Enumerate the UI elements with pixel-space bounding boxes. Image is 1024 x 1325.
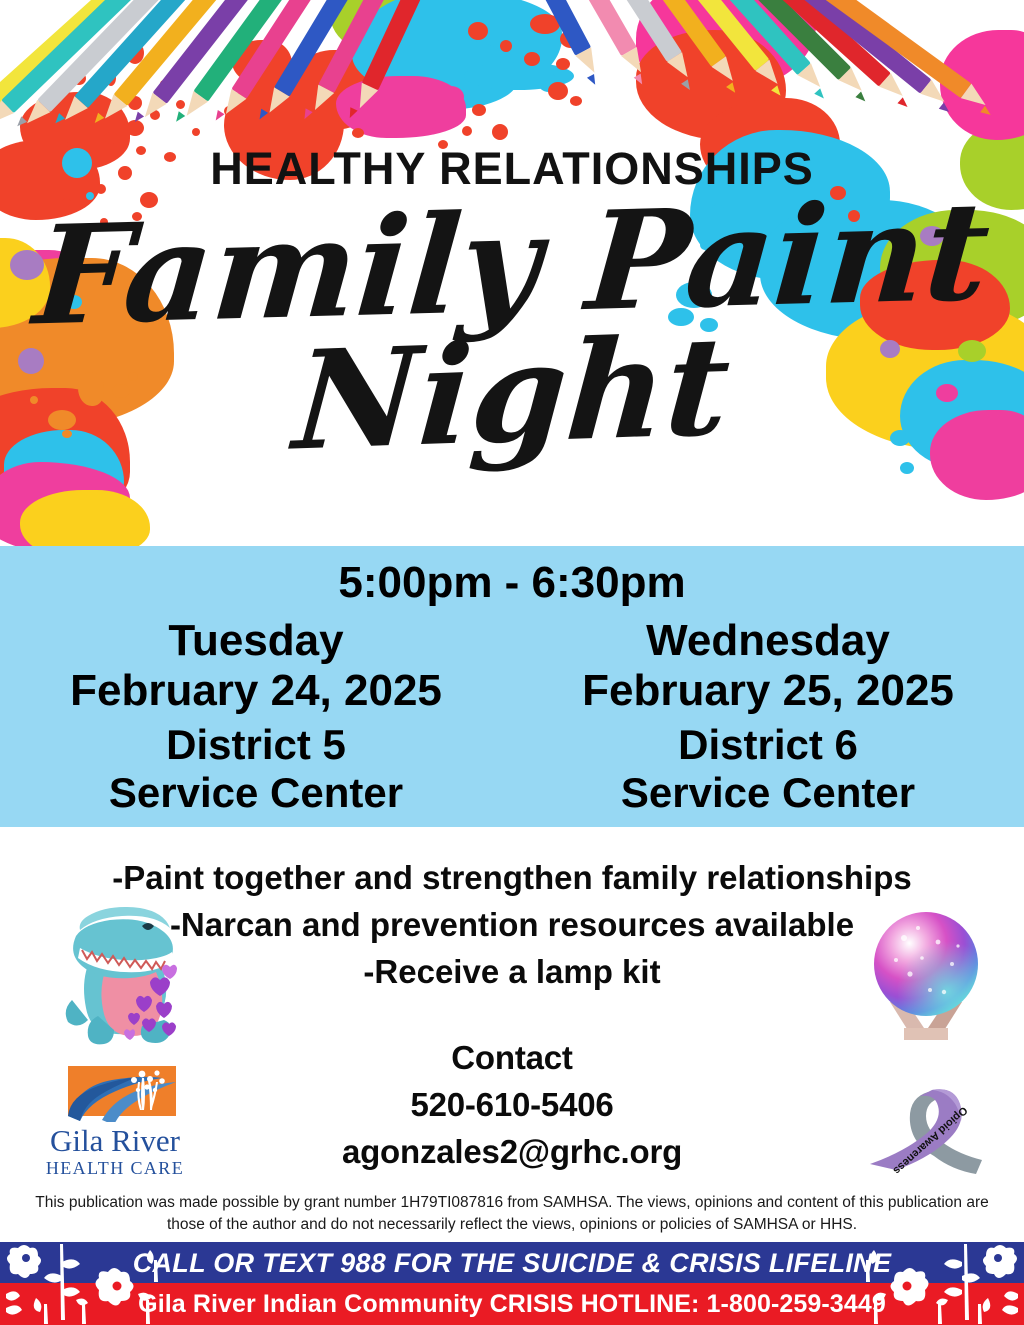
logo-subtitle: HEALTH CARE (22, 1158, 208, 1179)
dot-red-15 (176, 100, 185, 109)
community-crisis-hotline-text: Gila River Indian Community CRISIS HOTLI… (0, 1290, 1024, 1319)
colored-pencil-right-10 (810, 0, 1015, 129)
dot-red-3 (96, 44, 106, 54)
splat-red-center-3 (232, 40, 292, 84)
colored-pencil-right-3 (559, 0, 712, 109)
session-day: Wednesday (512, 616, 1024, 666)
dot-red-10 (126, 120, 144, 136)
colored-pencil-right-5 (633, 0, 804, 114)
dot-red-7 (128, 96, 142, 110)
session-tuesday: Tuesday February 24, 2025 District 5 Ser… (0, 616, 512, 816)
grant-disclaimer: This publication was made possible by gr… (20, 1192, 1004, 1236)
session-wednesday: Wednesday February 25, 2025 District 6 S… (512, 616, 1024, 816)
dot-red-4 (72, 72, 86, 85)
crisis-banner: CALL OR TEXT 988 FOR THE SUICIDE & CRISI… (0, 1242, 1024, 1325)
dot-red-33 (570, 96, 582, 106)
disclaimer-line-2: of the author and do not necessarily ref… (209, 1216, 857, 1233)
dot-red-27 (530, 14, 560, 34)
event-time: 5:00pm - 6:30pm (0, 546, 1024, 608)
splat-cyan-center-2 (378, 40, 518, 110)
dot-red-34 (472, 104, 486, 116)
dot-red-12 (150, 110, 160, 120)
splat-green-top (330, 0, 480, 60)
splat-hotpink-right (636, 0, 816, 94)
dot-red-29 (500, 40, 512, 52)
benefit-item: -Paint together and strengthen family re… (0, 855, 1024, 902)
dinosaur-toy-image (58, 896, 194, 1046)
dot-red-5 (106, 70, 116, 86)
page-title: Family Paint Night (0, 196, 1024, 462)
dot-red-9 (160, 80, 168, 88)
dot-red-8 (150, 54, 160, 64)
logo-mark (54, 1066, 176, 1122)
colored-pencil-right-4 (596, 0, 759, 111)
dot-red-26 (468, 22, 488, 40)
dot-red-2 (76, 60, 84, 68)
colored-pencil-left-7 (162, 0, 320, 145)
logo-name: Gila River (22, 1125, 208, 1157)
dot-pink-1 (438, 86, 464, 108)
splat-cyan-center (352, 0, 562, 100)
session-date: February 24, 2025 (0, 666, 512, 716)
dot-red-36 (492, 124, 508, 140)
session-date: February 25, 2025 (512, 666, 1024, 716)
colored-pencil-left-5 (80, 0, 245, 146)
colored-pencil-right-2 (521, 0, 665, 105)
splat-hotpink-right-2 (940, 30, 1024, 140)
splat-cyan-tail (464, 62, 574, 90)
dot-red-32 (548, 82, 568, 100)
dot-red-28 (560, 30, 582, 48)
colored-pencil-left-2 (0, 0, 138, 146)
session-day: Tuesday (0, 616, 512, 666)
colored-pencil-right-1 (484, 0, 617, 104)
flyer-page: HEALTHY RELATIONSHIPS Family Paint Night… (0, 0, 1024, 1325)
dot-red-16 (192, 128, 200, 136)
dot-red-31 (556, 58, 570, 70)
dot-cyan-r5 (900, 462, 914, 474)
colored-pencil-right-6 (668, 0, 847, 116)
session-location-line2: Service Center (0, 769, 512, 816)
dot-green-3 (440, 30, 454, 42)
dot-red-37 (352, 128, 364, 138)
dot-pink-2 (420, 116, 436, 130)
dot-green-1 (366, 20, 392, 42)
colored-pencil-left-11 (337, 0, 467, 144)
dot-red-24 (224, 106, 234, 116)
colored-pencil-left-10 (291, 0, 430, 144)
colored-pencil-left-3 (3, 0, 174, 148)
colored-pencil-left-1 (0, 0, 111, 147)
splat-red-right-1 (636, 30, 786, 140)
dot-red-30 (524, 52, 540, 66)
dot-red-35 (462, 126, 472, 136)
splat-pink-center (336, 76, 466, 138)
gila-river-health-care-logo: Gila River HEALTH CARE (22, 1066, 208, 1184)
dot-red-25 (200, 80, 212, 92)
session-location-line1: District 5 (0, 721, 512, 768)
sessions-row: Tuesday February 24, 2025 District 5 Ser… (0, 616, 1024, 816)
colored-pencil-left-8 (201, 0, 352, 145)
colored-pencil-right-8 (738, 0, 931, 123)
dot-red-1 (60, 48, 72, 60)
session-location-line1: District 6 (512, 721, 1024, 768)
colored-pencil-left-9 (245, 0, 392, 145)
splat-red-center-2 (290, 50, 380, 130)
colored-pencil-left-6 (120, 0, 282, 146)
colored-pencil-left-4 (40, 0, 207, 146)
suicide-crisis-lifeline-text: CALL OR TEXT 988 FOR THE SUICIDE & CRISI… (0, 1248, 1024, 1279)
colored-pencil-right-9 (773, 0, 972, 127)
session-location-line2: Service Center (512, 769, 1024, 816)
dot-red-6 (126, 42, 144, 64)
galaxy-lamp-image (866, 902, 986, 1048)
schedule-band: 5:00pm - 6:30pm Tuesday February 24, 202… (0, 546, 1024, 827)
opioid-awareness-ribbon: Opioid Awareness (862, 1078, 1002, 1188)
dot-green-2 (412, 14, 430, 30)
dot-cyan-3 (538, 74, 560, 92)
colored-pencil-right-7 (703, 0, 890, 118)
